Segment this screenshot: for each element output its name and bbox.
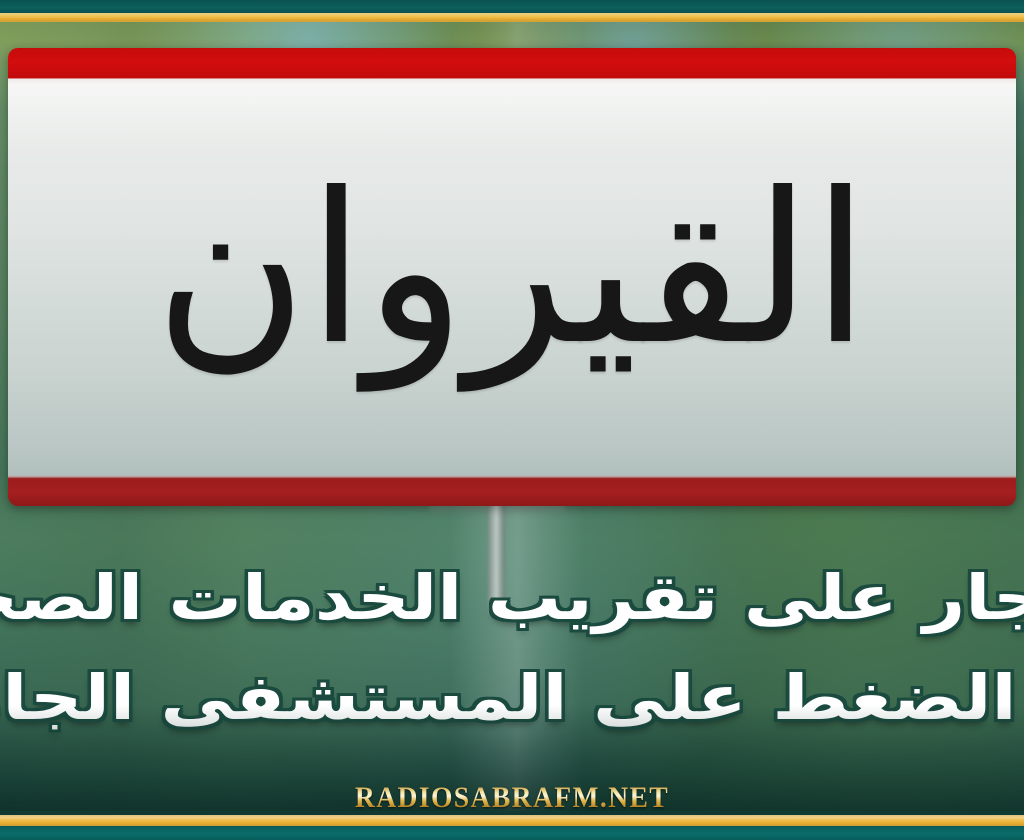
headline-line-1: مل جار على تقريب الخدمات الصحية للموا: [0, 548, 1024, 648]
frame-border-bottom-teal: [0, 826, 1024, 840]
frame-border-bottom-gold: [0, 815, 1024, 826]
site-watermark: RADIOSABRAFM.NET: [41, 781, 983, 815]
road-sign-panel: القيروان: [8, 48, 1016, 506]
frame-border-top-gold: [0, 13, 1024, 22]
headline-line-2: ف الضغط على المستشفى الجامعي ابر: [0, 648, 1024, 748]
frame-border-top-teal: [0, 0, 1024, 13]
image-canvas: القيروان مل جار على تقريب الخدمات الصحية…: [0, 0, 1024, 840]
sign-city-name: القيروان: [8, 166, 1016, 374]
headline-overlay: مل جار على تقريب الخدمات الصحية للموا ف …: [0, 548, 1024, 758]
